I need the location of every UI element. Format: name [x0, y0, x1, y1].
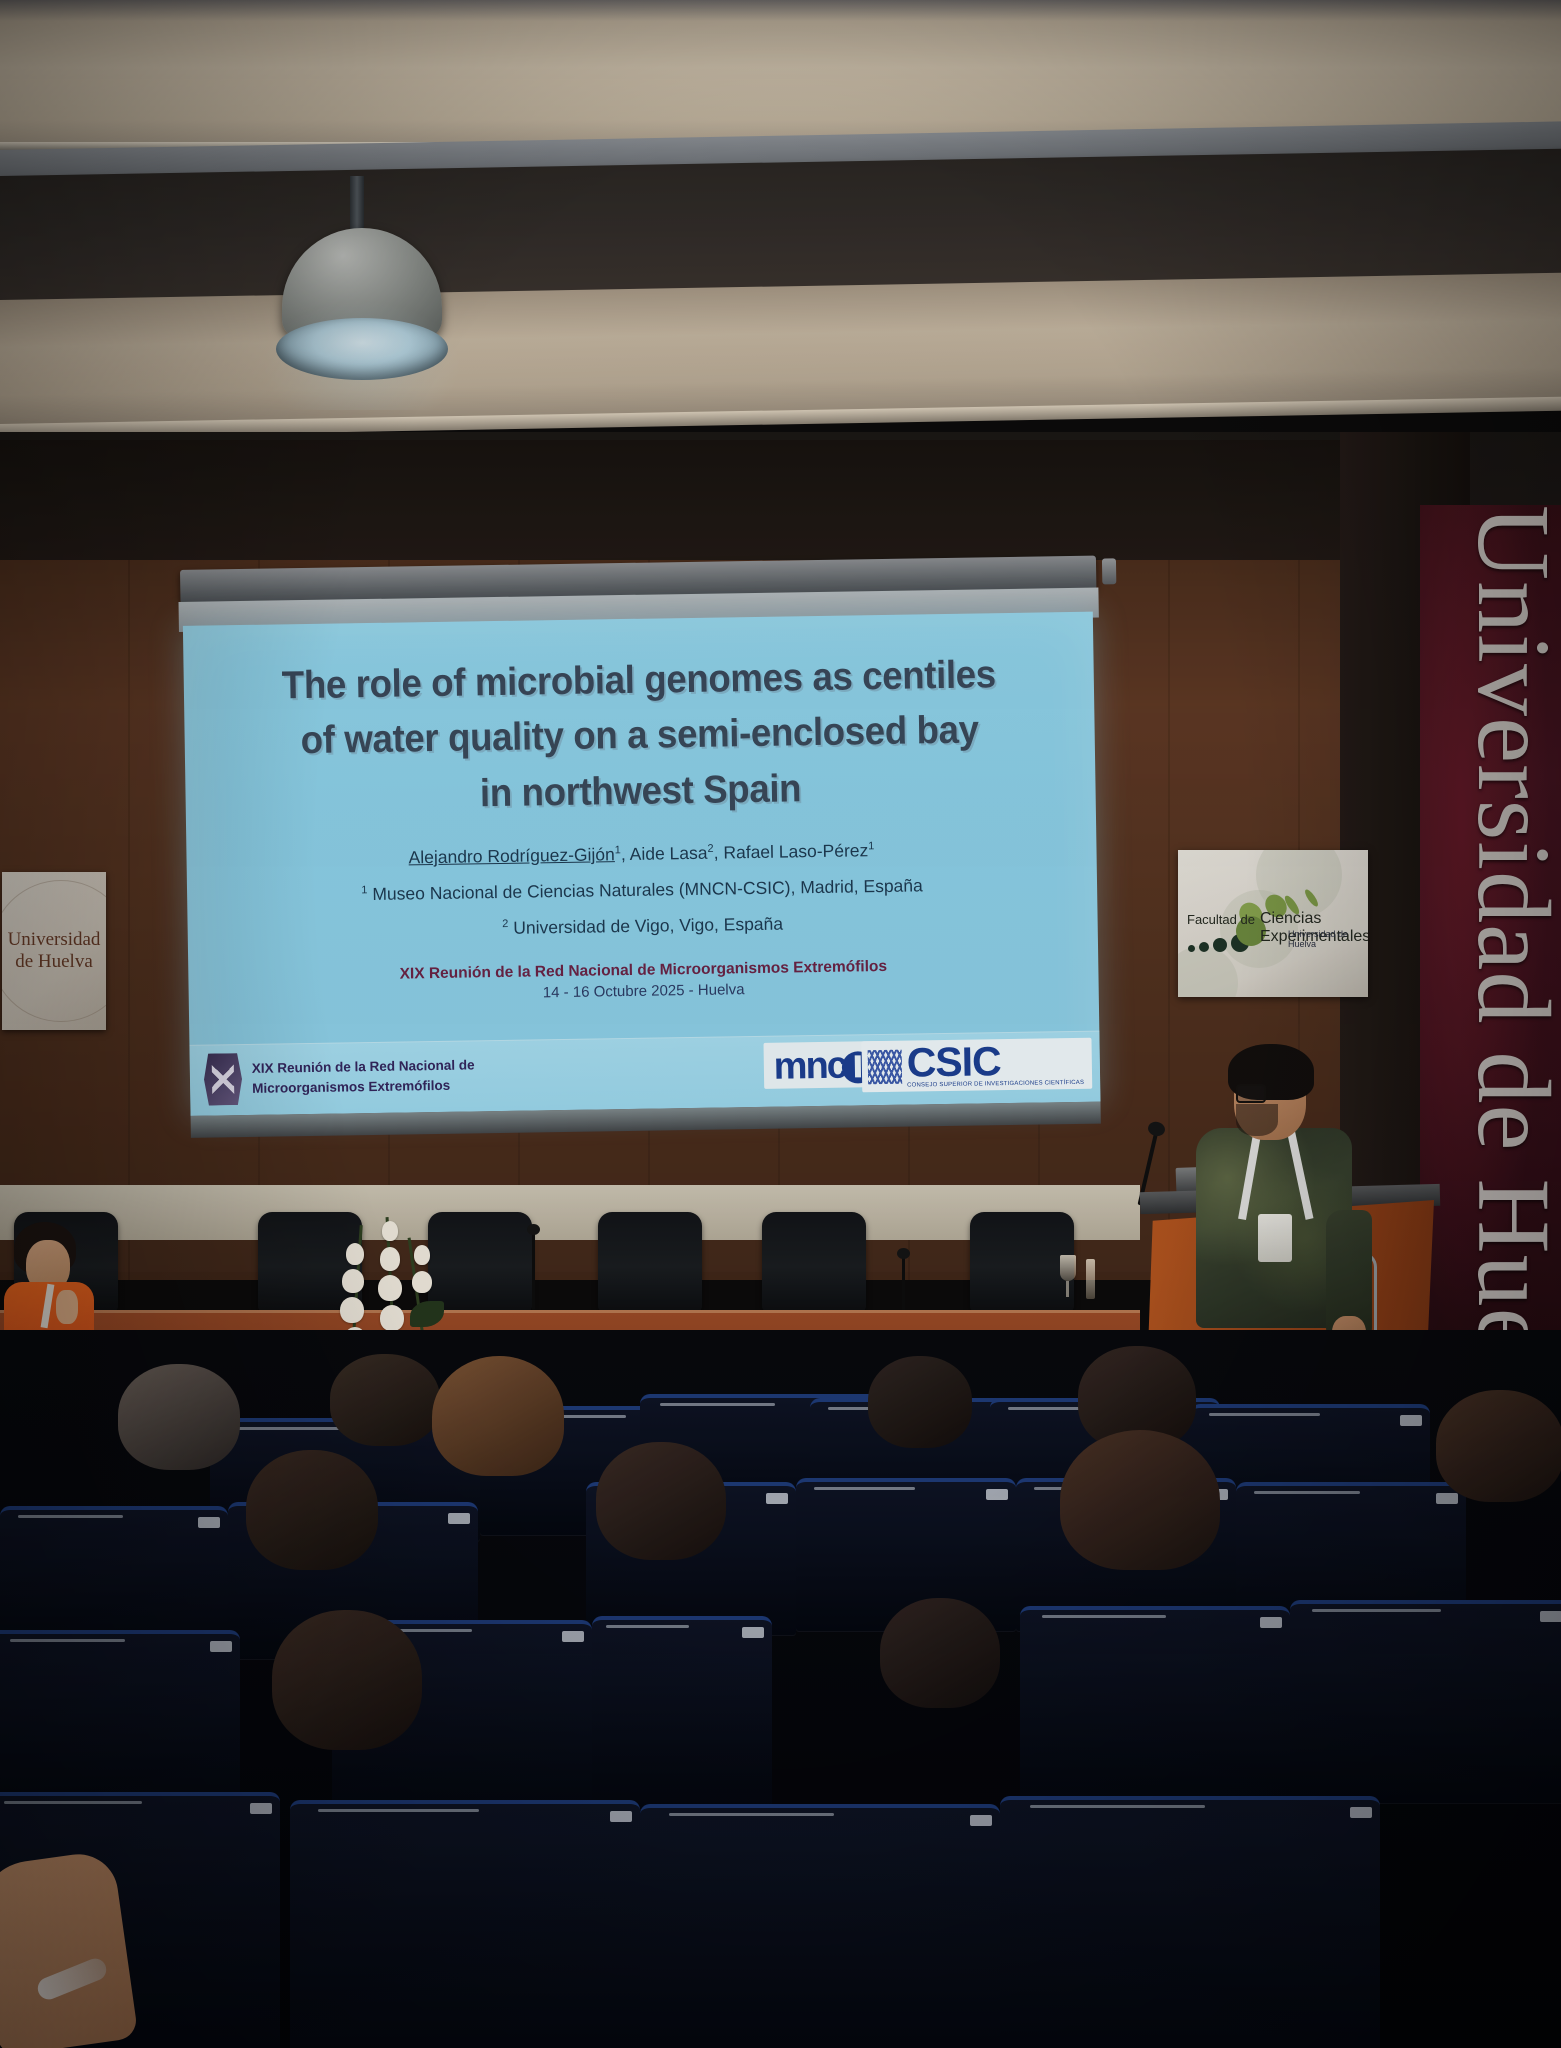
csic-wordmark: CSIC — [906, 1042, 1084, 1082]
seat-number-tag — [210, 1641, 232, 1652]
stage-chair — [598, 1212, 702, 1312]
slide-conference-block: XIX Reunión de la Red Nacional de Microo… — [188, 952, 1099, 1007]
author-sup-3: 1 — [868, 840, 874, 852]
university-banner: Universidad de Huelva — [1420, 505, 1561, 1405]
flower-bloom — [382, 1221, 398, 1241]
audience-head — [330, 1354, 440, 1446]
audience-seat — [1020, 1606, 1290, 1805]
audience-head — [432, 1356, 564, 1476]
seat-number-tag — [970, 1815, 992, 1826]
audience-head — [880, 1598, 1000, 1708]
table-microphone — [902, 1256, 905, 1318]
affiliation-1-text: Museo Nacional de Ciencias Naturales (MN… — [367, 875, 923, 904]
banner-text: Universidad de Huelva — [1461, 505, 1561, 1405]
table-microphone — [532, 1232, 535, 1310]
panelist-hand — [56, 1290, 78, 1324]
audience-head — [868, 1356, 972, 1448]
seat-number-tag — [1260, 1617, 1282, 1628]
audience-head — [1436, 1390, 1561, 1502]
speaker-badge — [1258, 1214, 1292, 1262]
audience-seat — [290, 1800, 640, 2048]
eyeglasses-icon — [1236, 1084, 1266, 1103]
authors-rest-2: , Rafael Laso-Pérez — [713, 840, 868, 862]
flower-bloom — [412, 1271, 432, 1293]
flower-bloom — [378, 1275, 402, 1301]
flower-bloom — [346, 1243, 364, 1265]
flower-bloom — [340, 1297, 364, 1323]
wall-poster-facultad-ciencias: Facultad de Ciencias Experimentales Univ… — [1178, 850, 1368, 997]
presenting-author: Alejandro Rodríguez-Gijón — [408, 844, 615, 867]
drinking-glass — [1060, 1255, 1076, 1281]
audience-seat — [640, 1804, 1000, 2048]
stage-chair — [762, 1212, 866, 1312]
seat-number-tag — [610, 1811, 632, 1822]
audience-head — [246, 1450, 378, 1570]
flower-leaf — [410, 1301, 444, 1327]
audience-head — [118, 1364, 240, 1470]
seat-number-tag — [1400, 1415, 1422, 1426]
seat-number-tag — [250, 1803, 272, 1814]
seat-number-tag — [448, 1513, 470, 1524]
poster-left-text: Universidad de Huelva — [8, 929, 101, 974]
seat-number-tag — [1350, 1807, 1372, 1818]
flower-bloom — [414, 1245, 430, 1265]
poster-right-university: Universidad de Huelva — [1288, 929, 1368, 949]
flower-bloom — [342, 1269, 364, 1293]
csic-mark-icon — [868, 1050, 903, 1085]
audience-head — [272, 1610, 422, 1750]
extremofilos-logo-icon — [204, 1053, 243, 1106]
projected-slide: The role of microbial genomes as centile… — [183, 612, 1101, 1116]
stage-chair-row — [0, 1212, 1140, 1322]
poster-left-line-2: de Huelva — [8, 951, 101, 973]
screen-case-end-cap — [1102, 558, 1116, 584]
seat-number-tag — [1540, 1611, 1561, 1622]
audience-area — [0, 1330, 1561, 2048]
seat-number-tag — [198, 1517, 220, 1528]
projection-screen-assembly: The role of microbial genomes as centile… — [178, 555, 1118, 1190]
speaker-beard — [1236, 1104, 1278, 1136]
poster-right-faculty: Facultad de — [1187, 912, 1255, 927]
glass-stem — [1066, 1281, 1069, 1297]
footer-conference-text: XIX Reunión de la Red Nacional de Microo… — [252, 1055, 475, 1098]
seat-number-tag — [742, 1627, 764, 1638]
wall-upper-strip — [0, 440, 1460, 570]
lamp-rod — [350, 176, 364, 234]
audience-seat — [592, 1616, 772, 1810]
audience-head — [1060, 1430, 1220, 1570]
slide-title: The role of microbial genomes as centile… — [211, 646, 1069, 826]
csic-logo: CSIC CONSEJO SUPERIOR DE INVESTIGACIONES… — [861, 1038, 1092, 1092]
conference-photo-scene: Universidad de Huelva Universidad de Hue… — [0, 0, 1561, 2048]
water-bottle — [1086, 1259, 1095, 1299]
seat-number-tag — [1436, 1493, 1458, 1504]
seat-number-tag — [766, 1493, 788, 1504]
audience-head — [596, 1442, 726, 1560]
wall-poster-universidad-de-huelva: Universidad de Huelva — [2, 872, 106, 1030]
affiliation-2-text: Universidad de Vigo, Vigo, España — [508, 913, 783, 937]
poster-left-line-1: Universidad — [8, 929, 101, 951]
mncn-wordmark: mnc — [773, 1045, 846, 1088]
slide-authors-block: Alejandro Rodríguez-Gijón1, Aide Lasa2, … — [186, 830, 1098, 952]
seat-number-tag — [562, 1631, 584, 1642]
flower-bloom — [380, 1305, 404, 1331]
stage-chair — [970, 1212, 1074, 1312]
flower-bloom — [380, 1247, 400, 1271]
lamp-aperture — [276, 318, 448, 380]
audience-seat — [1290, 1600, 1561, 1804]
authors-rest: , Aide Lasa — [621, 843, 708, 864]
footer-line-2: Microorganismos Extremófilos — [252, 1075, 475, 1098]
seat-number-tag — [986, 1489, 1008, 1500]
audience-seat — [1000, 1796, 1380, 2048]
